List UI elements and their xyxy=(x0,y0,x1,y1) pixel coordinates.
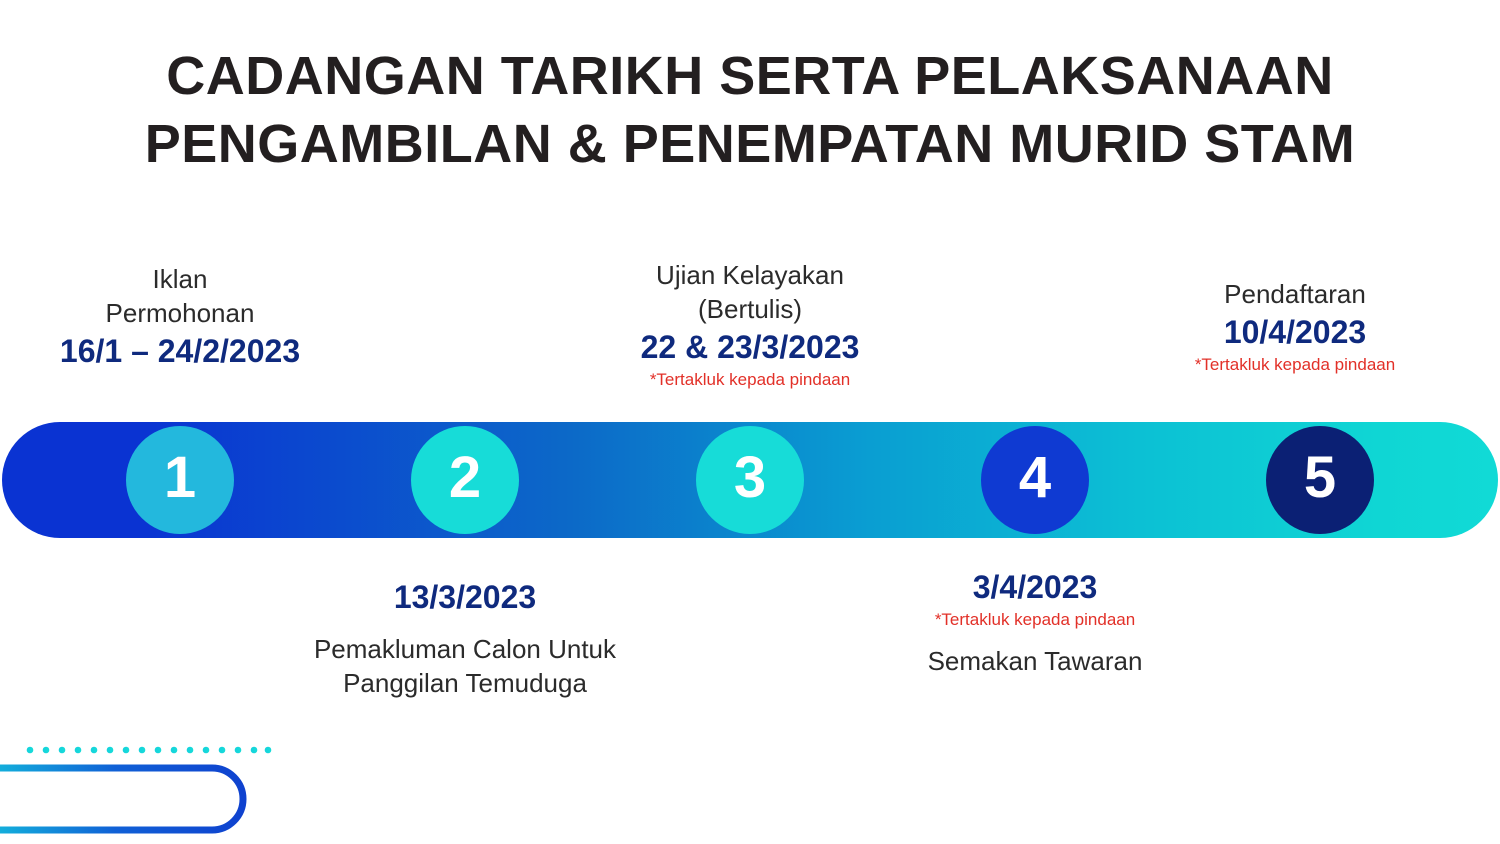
step-1-date: 16/1 – 24/2/2023 xyxy=(10,330,350,372)
slide-canvas: { "title": { "line1": "CADANGAN TARIKH S… xyxy=(0,0,1500,844)
step-3-title-line-1: Ujian Kelayakan xyxy=(580,258,920,292)
step-4-note: *Tertakluk kepada pindaan xyxy=(865,608,1205,631)
title-line-2: PENGAMBILAN & PENEMPATAN MURID STAM xyxy=(0,110,1500,178)
step-label-4: 3/4/2023 *Tertakluk kepada pindaan Semak… xyxy=(865,566,1205,678)
step-label-3: Ujian Kelayakan (Bertulis) 22 & 23/3/202… xyxy=(580,258,920,391)
decorative-ornament xyxy=(0,726,300,844)
step-circle-3[interactable]: 3 xyxy=(696,426,804,534)
step-1-title-line-1: Iklan xyxy=(10,262,350,296)
step-5-title-line-1: Pendaftaran xyxy=(1125,277,1465,311)
page-title: CADANGAN TARIKH SERTA PELAKSANAAN PENGAM… xyxy=(0,42,1500,178)
step-circle-1-number: 1 xyxy=(164,449,196,507)
decorative-dotted-line xyxy=(27,747,272,754)
step-3-note: *Tertakluk kepada pindaan xyxy=(580,368,920,391)
step-circle-4-number: 4 xyxy=(1019,449,1051,507)
step-4-title-line-1: Semakan Tawaran xyxy=(865,644,1205,678)
step-label-1: Iklan Permohonan 16/1 – 24/2/2023 xyxy=(10,262,350,372)
step-5-note: *Tertakluk kepada pindaan xyxy=(1125,353,1465,376)
step-label-2: 13/3/2023 Pemakluman Calon Untuk Panggil… xyxy=(285,576,645,700)
step-3-date: 22 & 23/3/2023 xyxy=(580,326,920,368)
step-5-date: 10/4/2023 xyxy=(1125,311,1465,353)
step-4-date: 3/4/2023 xyxy=(865,566,1205,608)
step-3-title-line-2: (Bertulis) xyxy=(580,292,920,326)
step-2-title-line-2: Panggilan Temuduga xyxy=(285,666,645,700)
step-circle-4[interactable]: 4 xyxy=(981,426,1089,534)
step-circle-1[interactable]: 1 xyxy=(126,426,234,534)
step-circle-5-number: 5 xyxy=(1304,449,1336,507)
step-1-title-line-2: Permohonan xyxy=(10,296,350,330)
step-2-title-line-1: Pemakluman Calon Untuk xyxy=(285,632,645,666)
step-circle-3-number: 3 xyxy=(734,449,766,507)
step-circle-2-number: 2 xyxy=(449,449,481,507)
step-circle-5[interactable]: 5 xyxy=(1266,426,1374,534)
step-2-date: 13/3/2023 xyxy=(285,576,645,618)
step-circle-2[interactable]: 2 xyxy=(411,426,519,534)
title-line-1: CADANGAN TARIKH SERTA PELAKSANAAN xyxy=(0,42,1500,110)
step-label-5: Pendaftaran 10/4/2023 *Tertakluk kepada … xyxy=(1125,277,1465,376)
decorative-pill-outline xyxy=(0,768,243,830)
